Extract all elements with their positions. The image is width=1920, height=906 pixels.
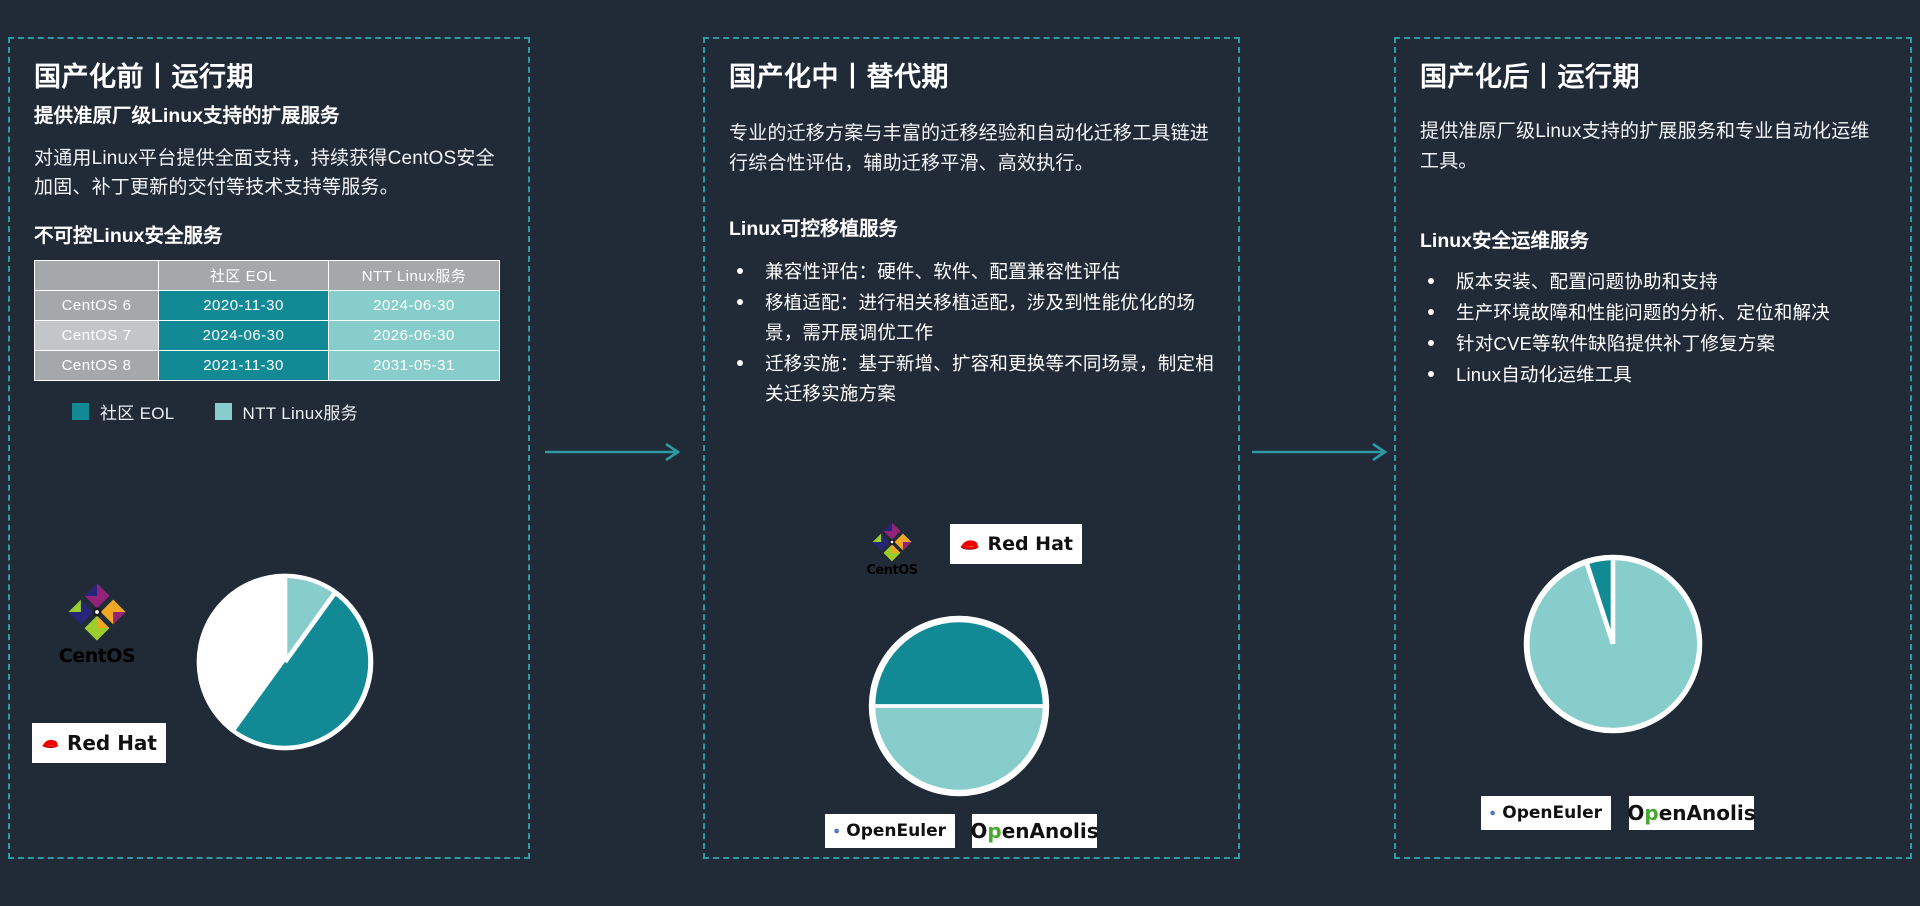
table-cell-eol: 2024-06-30	[159, 320, 329, 350]
pie-chart-svg	[866, 613, 1052, 799]
table-cell-ntt: 2024-06-30	[329, 290, 500, 320]
redhat-logo: Red Hat	[32, 723, 166, 763]
list-item: 移植适配：进行相关移植适配，涉及到性能优化的场景，需开展调优工作	[729, 288, 1214, 348]
openanolis-logo: OpenAnolis	[1629, 796, 1754, 830]
legend-label: NTT Linux服务	[243, 399, 358, 424]
table-cell-eol: 2021-11-30	[159, 350, 329, 380]
table-row: CentOS 7 2024-06-30 2026-06-30	[35, 320, 500, 350]
panel-title: 国产化中丨替代期	[729, 61, 1214, 93]
pie-chart-svg	[192, 569, 378, 755]
panel-title: 国产化后丨运行期	[1420, 61, 1886, 93]
openanolis-text-o: O	[1627, 801, 1644, 825]
service-bullet-list: 版本安装、配置问题协助和支持 生产环境故障和性能问题的分析、定位和解决 针对CV…	[1420, 267, 1886, 390]
redhat-fedora-icon	[959, 531, 980, 557]
panel-subtitle: 提供准原厂级Linux支持的扩展服务	[34, 103, 504, 129]
legend-item-ntt-service: NTT Linux服务	[215, 399, 358, 424]
openeuler-mark-icon	[834, 819, 839, 843]
pie-chart-svg	[1520, 551, 1706, 737]
arrow-right-icon	[545, 440, 685, 464]
list-item: Linux自动化运维工具	[1420, 360, 1886, 390]
centos-logo-label: CentOS	[856, 563, 928, 578]
legend-swatch-icon	[72, 403, 89, 420]
openeuler-logo-label: OpenEuler	[1502, 803, 1602, 823]
legend-item-community-eol: 社区 EOL	[72, 399, 175, 424]
table-cell-os: CentOS 8	[35, 350, 159, 380]
service-bullet-list: 兼容性评估：硬件、软件、配置兼容性评估 移植适配：进行相关移植适配，涉及到性能优…	[729, 257, 1214, 409]
section-heading: Linux安全运维服务	[1420, 224, 1886, 253]
table-cell-ntt: 2026-06-30	[329, 320, 500, 350]
redhat-logo-label: Red Hat	[987, 533, 1073, 555]
centos-eol-table: 社区 EOL NTT Linux服务 CentOS 6 2020-11-30 2…	[34, 260, 500, 381]
centos-logo-label: CentOS	[52, 645, 142, 667]
panel-after-localization: 国产化后丨运行期 提供准原厂级Linux支持的扩展服务和专业自动化运维工具。 L…	[1394, 37, 1912, 859]
openanolis-text-rest: enAnolis	[1659, 801, 1756, 825]
arrow-panel2-to-panel3	[1252, 440, 1392, 469]
panel-description: 专业的迁移方案与丰富的迁移经验和自动化迁移工具链进行综合性评估，辅助迁移平滑、高…	[729, 119, 1214, 178]
list-item: 生产环境故障和性能问题的分析、定位和解决	[1420, 298, 1886, 328]
panel-before-localization: 国产化前丨运行期 提供准原厂级Linux支持的扩展服务 对通用Linux平台提供…	[8, 37, 530, 859]
legend-label: 社区 EOL	[100, 399, 175, 424]
openeuler-logo: OpenEuler	[825, 814, 955, 848]
centos-mark-icon	[871, 521, 913, 563]
redhat-fedora-icon	[41, 730, 60, 756]
table-cell-os: CentOS 6	[35, 290, 159, 320]
arrow-right-icon	[1252, 440, 1392, 464]
centos-mark-icon	[66, 581, 128, 643]
openanolis-leaf-icon: p	[1644, 801, 1658, 825]
list-item: 兼容性评估：硬件、软件、配置兼容性评估	[729, 257, 1214, 287]
panel-during-localization: 国产化中丨替代期 专业的迁移方案与丰富的迁移经验和自动化迁移工具链进行综合性评估…	[703, 37, 1240, 859]
table-header-blank	[35, 260, 159, 290]
list-item: 版本安装、配置问题协助和支持	[1420, 267, 1886, 297]
list-item: 针对CVE等软件缺陷提供补丁修复方案	[1420, 329, 1886, 359]
openanolis-logo-label: OpenAnolis	[1627, 801, 1755, 825]
centos-logo: CentOS	[856, 521, 928, 578]
openanolis-leaf-icon: p	[987, 819, 1001, 843]
table-header-community-eol: 社区 EOL	[159, 260, 329, 290]
pie-chart-during	[866, 613, 1052, 804]
arrow-panel1-to-panel2	[545, 440, 685, 469]
table-cell-ntt: 2031-05-31	[329, 350, 500, 380]
openanolis-logo: OpenAnolis	[972, 814, 1097, 848]
table-cell-eol: 2020-11-30	[159, 290, 329, 320]
openeuler-mark-icon	[1490, 801, 1495, 825]
list-item: 迁移实施：基于新增、扩容和更换等不同场景，制定相关迁移实施方案	[729, 349, 1214, 409]
openeuler-logo-label: OpenEuler	[846, 821, 946, 841]
openanolis-text-rest: enAnolis	[1002, 819, 1099, 843]
table-header-row: 社区 EOL NTT Linux服务	[35, 260, 500, 290]
panel-description: 对通用Linux平台提供全面支持，持续获得CentOS安全加固、补丁更新的交付等…	[34, 144, 504, 203]
redhat-logo: Red Hat	[950, 524, 1082, 564]
section-heading: 不可控Linux安全服务	[34, 219, 504, 248]
table-row: CentOS 6 2020-11-30 2024-06-30	[35, 290, 500, 320]
table-cell-os: CentOS 7	[35, 320, 159, 350]
pie-legend: 社区 EOL NTT Linux服务	[72, 399, 504, 424]
table-row: CentOS 8 2021-11-30 2031-05-31	[35, 350, 500, 380]
section-heading: Linux可控移植服务	[729, 212, 1214, 241]
panel-description: 提供准原厂级Linux支持的扩展服务和专业自动化运维工具。	[1420, 117, 1886, 176]
centos-logo: CentOS	[52, 581, 142, 667]
legend-swatch-icon	[215, 403, 232, 420]
panel-title: 国产化前丨运行期	[34, 61, 504, 93]
openanolis-logo-label: OpenAnolis	[970, 819, 1098, 843]
table-header-ntt-service: NTT Linux服务	[329, 260, 500, 290]
pie-chart-after	[1520, 551, 1706, 742]
redhat-logo-label: Red Hat	[67, 731, 157, 755]
openanolis-text-o: O	[970, 819, 987, 843]
pie-chart-before	[192, 569, 378, 760]
openeuler-logo: OpenEuler	[1481, 796, 1611, 830]
